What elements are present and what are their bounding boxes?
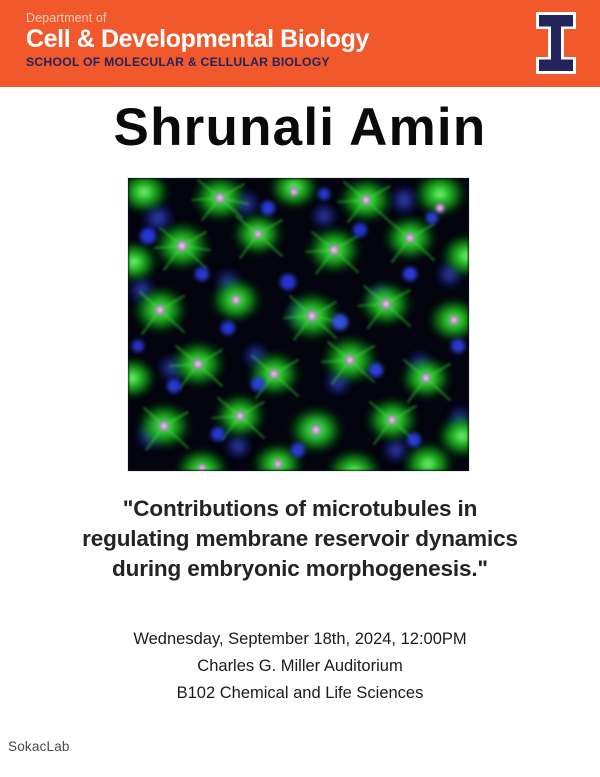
speaker-name-heading: Shrunali Amin	[0, 97, 600, 159]
school-name-label: SCHOOL OF MOLECULAR & CELLULAR BIOLOGY	[26, 55, 369, 70]
event-datetime: Wednesday, September 18th, 2024, 12:00PM	[0, 626, 600, 653]
event-details-block: Wednesday, September 18th, 2024, 12:00PM…	[0, 626, 600, 707]
event-venue: Charles G. Miller Auditorium	[0, 653, 600, 680]
event-building: B102 Chemical and Life Sciences	[0, 680, 600, 707]
lab-watermark-label: SokacLab	[8, 739, 70, 754]
department-name-label: Cell & Developmental Biology	[26, 25, 369, 54]
research-micrograph-image	[127, 177, 470, 472]
talk-title-line-1: "Contributions of microtubules in	[22, 494, 578, 524]
department-eyebrow-label: Department of	[26, 10, 369, 26]
talk-title-line-3: during embryonic morphogenesis."	[22, 554, 578, 584]
department-wordmark: Department of Cell & Developmental Biolo…	[26, 10, 369, 70]
talk-title-line-2: regulating membrane reservoir dynamics	[22, 524, 578, 554]
talk-title-heading: "Contributions of microtubules in regula…	[22, 494, 578, 584]
header-banner: Department of Cell & Developmental Biolo…	[0, 0, 600, 87]
illinois-block-i-icon	[530, 9, 582, 77]
